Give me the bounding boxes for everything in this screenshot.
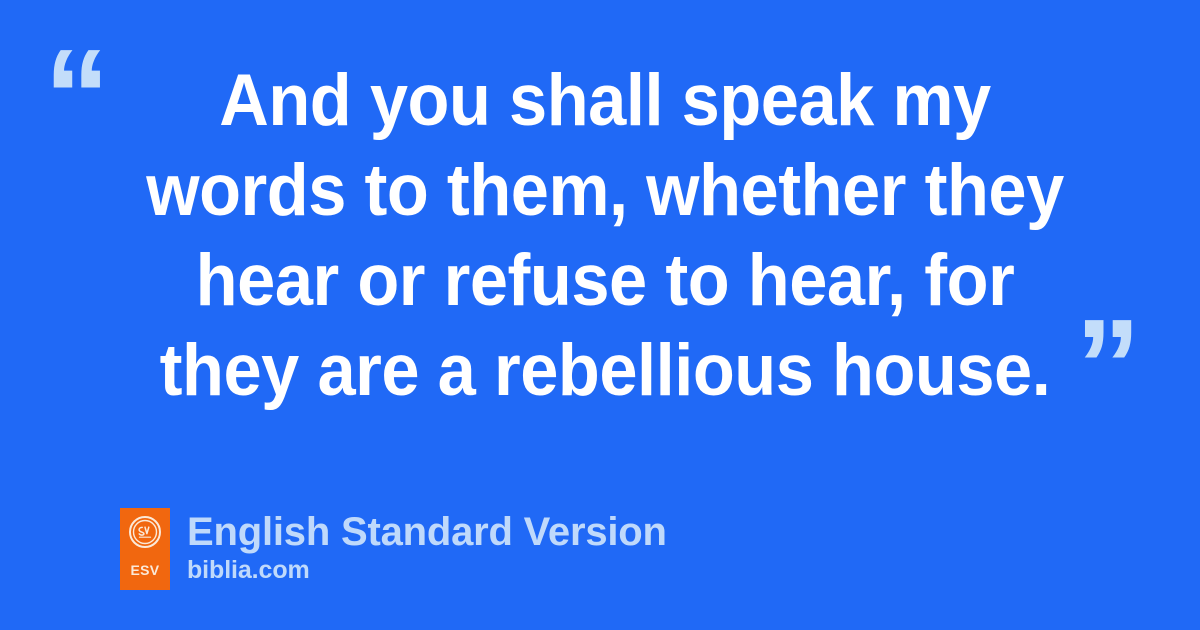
verse-text-block: And you shall speak my words to them, wh… xyxy=(60,56,1150,416)
attribution-text: English Standard Version biblia.com xyxy=(187,508,667,585)
verse-share-card: “ And you shall speak my words to them, … xyxy=(0,0,1200,630)
esv-logo: ESV xyxy=(120,508,170,590)
site-url-label: biblia.com xyxy=(187,555,667,585)
verse-line: hear or refuse to hear, for xyxy=(93,236,1118,326)
attribution: ESV English Standard Version biblia.com xyxy=(120,508,667,590)
esv-abbreviation-label: ESV xyxy=(131,563,160,577)
verse-line: And you shall speak my xyxy=(93,56,1118,146)
verse-line: words to them, whether they xyxy=(93,146,1118,236)
esv-seal-emblem-icon xyxy=(129,516,161,548)
verse-line: they are a rebellious house. xyxy=(93,326,1118,416)
translation-name-label: English Standard Version xyxy=(187,509,667,555)
closing-quote-icon: ” xyxy=(1075,300,1139,432)
